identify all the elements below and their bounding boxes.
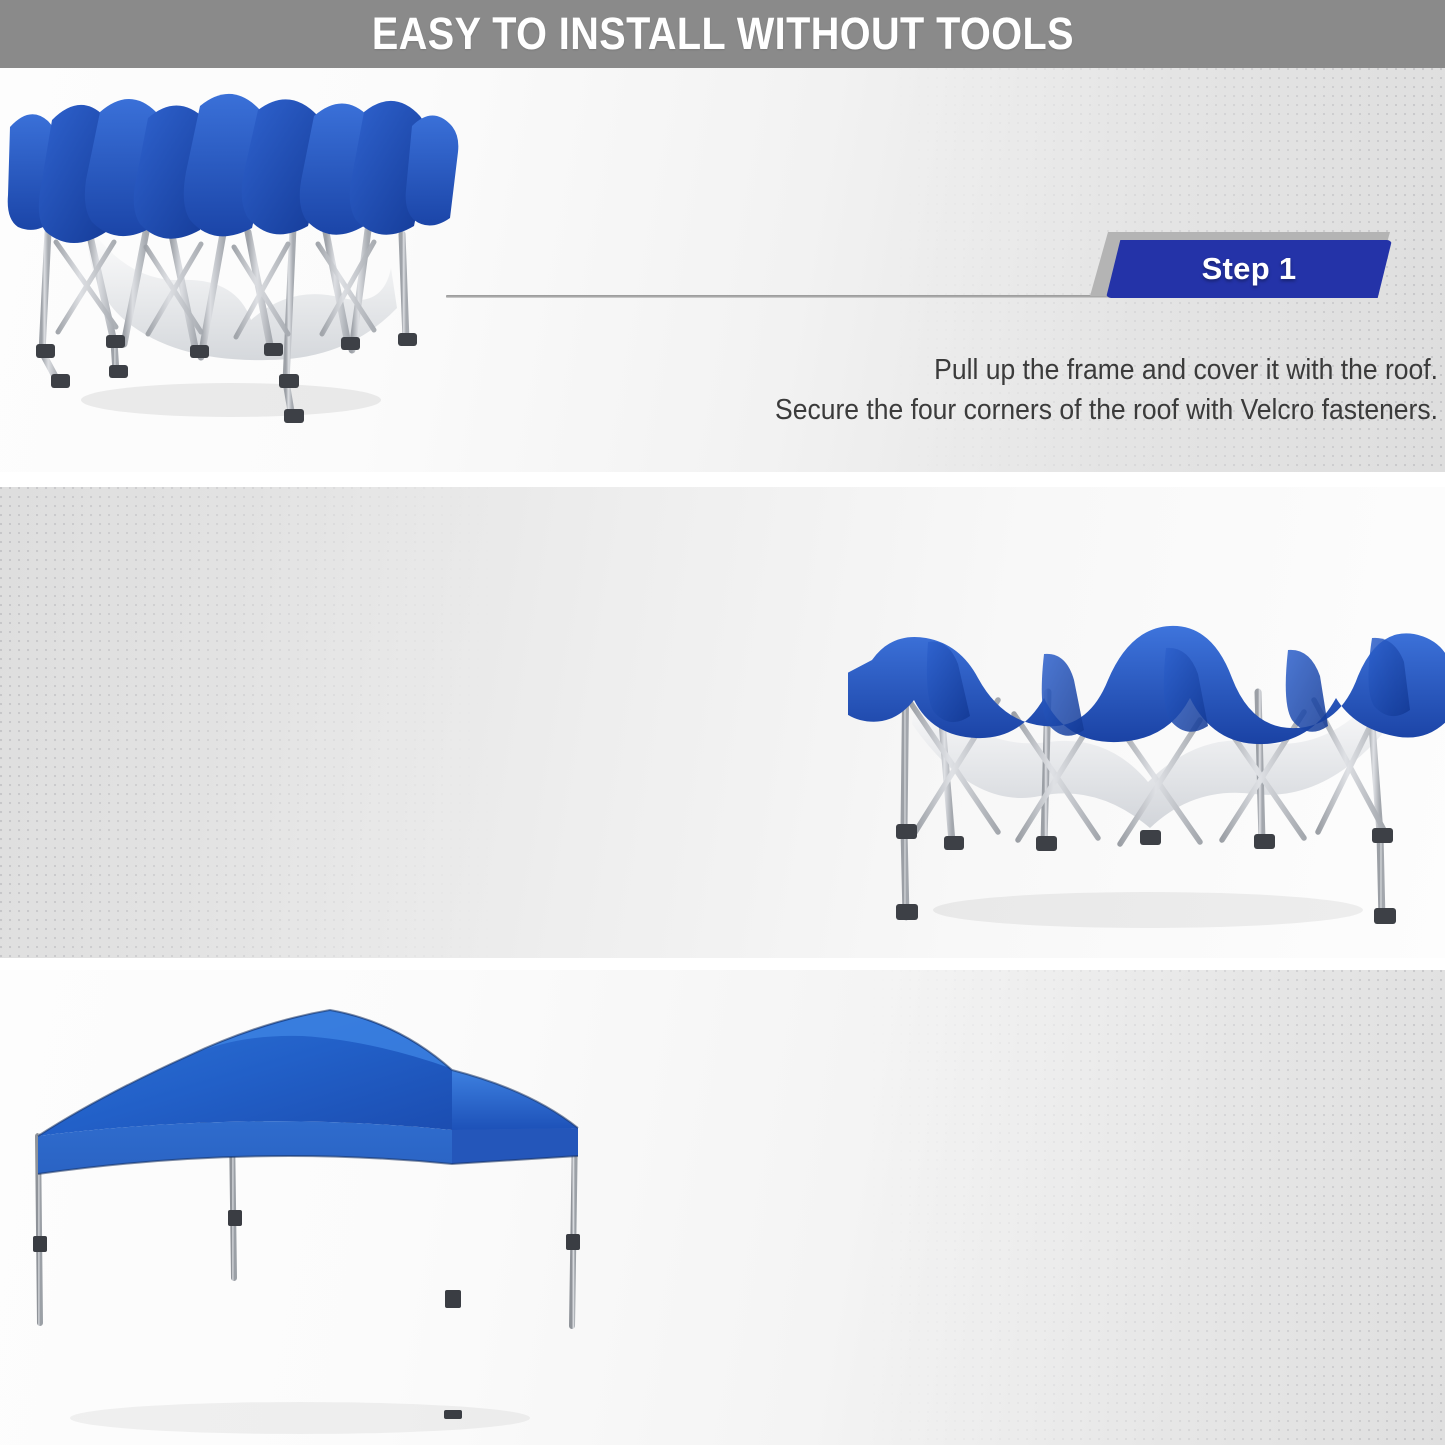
infographic-page: EASY TO INSTALL WITHOUT TOOLS	[0, 0, 1445, 1445]
step-1-panel: Step 1 Pull up the frame and cover it wi…	[0, 68, 1445, 472]
step-2-panel: Step 2 Pull up the frame	[0, 487, 1445, 958]
connector-line-step-1	[446, 295, 1136, 298]
badge-body: Step 1	[1106, 240, 1392, 298]
folded-canopy-illustration	[0, 82, 466, 432]
open-canopy-illustration	[0, 978, 625, 1443]
caption-line: Pull up the frame and cover it with the …	[657, 350, 1438, 390]
caption-line: Secure the four corners of the roof with…	[657, 390, 1438, 430]
step-3-panel: Step 3 Push it up until the frame is com…	[0, 970, 1445, 1445]
step-1-caption: Pull up the frame and cover it with the …	[657, 350, 1438, 431]
partially-extended-canopy-illustration	[848, 542, 1445, 942]
badge-label: Step 1	[1202, 251, 1297, 287]
page-title: EASY TO INSTALL WITHOUT TOOLS	[371, 8, 1073, 60]
header-bar: EASY TO INSTALL WITHOUT TOOLS	[0, 0, 1445, 68]
step-1-badge[interactable]: Step 1	[1106, 240, 1406, 300]
